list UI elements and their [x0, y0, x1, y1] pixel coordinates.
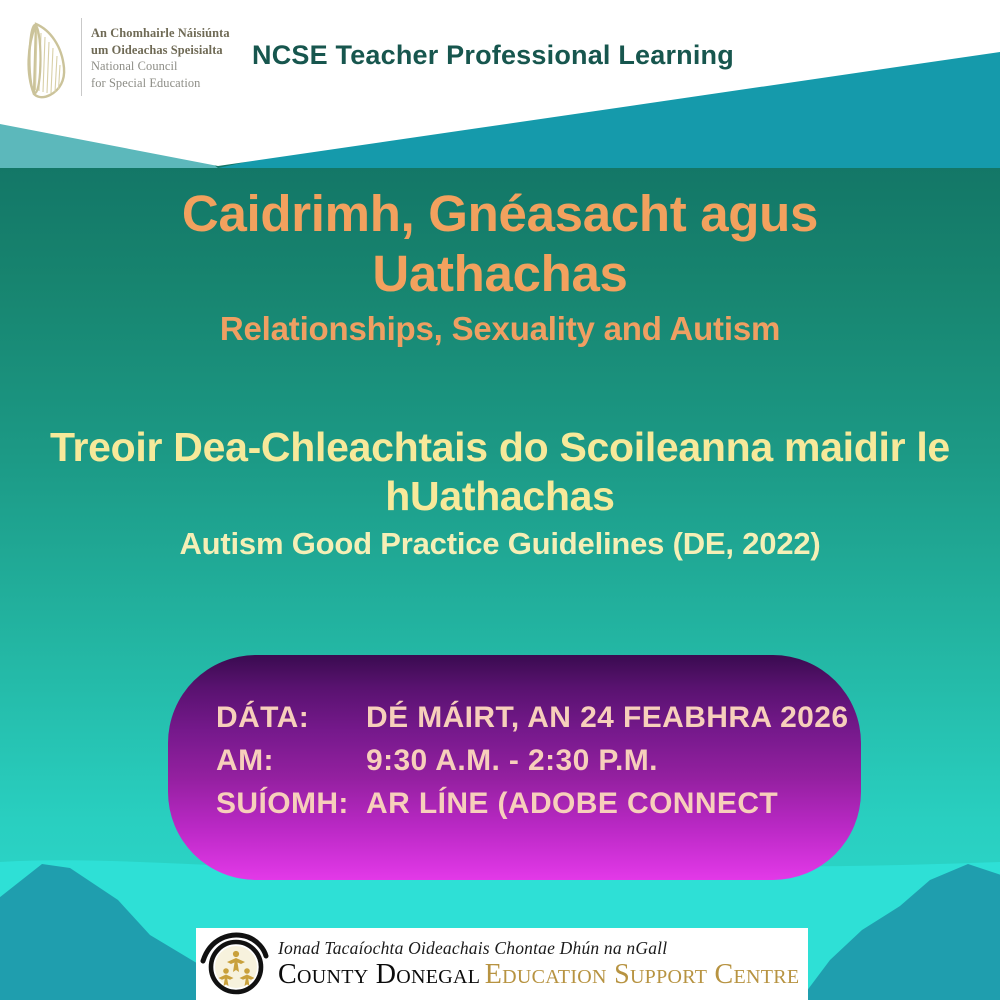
detail-value-time: 9:30 A.M. - 2:30 P.M.	[366, 744, 658, 778]
donegal-name-irish: Ionad Tacaíochta Oideachais Chontae Dhún…	[278, 938, 799, 958]
donegal-name-primary: County Donegal	[278, 959, 480, 990]
header: An Chomhairle Náisiúnta um Oideachas Spe…	[0, 0, 1000, 170]
ncse-logo: An Chomhairle Náisiúnta um Oideachas Spe…	[20, 14, 230, 102]
event-subtitle-english: Autism Good Practice Guidelines (DE, 202…	[0, 525, 1000, 562]
logo-divider	[81, 18, 82, 96]
detail-row-date: DÁTA: DÉ MÁIRT, AN 24 FEABHRA 2026	[216, 701, 861, 735]
detail-value-date: DÉ MÁIRT, AN 24 FEABHRA 2026	[366, 701, 848, 735]
detail-label-date: DÁTA:	[216, 701, 366, 735]
event-title-irish: Caidrimh, Gnéasacht agus Uathachas	[0, 170, 1000, 303]
header-title: NCSE Teacher Professional Learning	[252, 40, 734, 71]
event-details-panel: DÁTA: DÉ MÁIRT, AN 24 FEABHRA 2026 AM: 9…	[168, 655, 861, 880]
donegal-eye-figures-icon	[200, 931, 272, 997]
ncse-logo-line-en-1: National Council	[91, 58, 230, 75]
detail-row-location: SUÍOMH: AR LÍNE (ADOBE CONNECT	[216, 787, 861, 821]
donegal-education-support-centre-logo: Ionad Tacaíochta Oideachais Chontae Dhún…	[196, 928, 808, 1000]
donegal-name-english: County Donegal Education Support Centre	[278, 960, 799, 989]
ncse-logo-line-en-2: for Special Education	[91, 75, 230, 92]
ncse-logo-text: An Chomhairle Náisiúnta um Oideachas Spe…	[91, 25, 230, 91]
event-subtitle-irish: Treoir Dea-Chleachtais do Scoileanna mai…	[0, 423, 1000, 521]
irish-harp-icon	[20, 16, 72, 100]
detail-label-location: SUÍOMH:	[216, 787, 366, 821]
donegal-logo-text: Ionad Tacaíochta Oideachais Chontae Dhún…	[278, 938, 799, 990]
event-title-english: Relationships, Sexuality and Autism	[0, 309, 1000, 349]
donegal-name-secondary: Education Support Centre	[485, 959, 800, 990]
event-flyer: An Chomhairle Náisiúnta um Oideachas Spe…	[0, 0, 1000, 1000]
detail-label-time: AM:	[216, 744, 366, 778]
ncse-logo-line-ga-1: An Chomhairle Náisiúnta	[91, 25, 230, 42]
detail-value-location: AR LÍNE (ADOBE CONNECT	[366, 787, 778, 821]
ncse-logo-line-ga-2: um Oideachas Speisialta	[91, 42, 230, 59]
detail-row-time: AM: 9:30 A.M. - 2:30 P.M.	[216, 744, 861, 778]
